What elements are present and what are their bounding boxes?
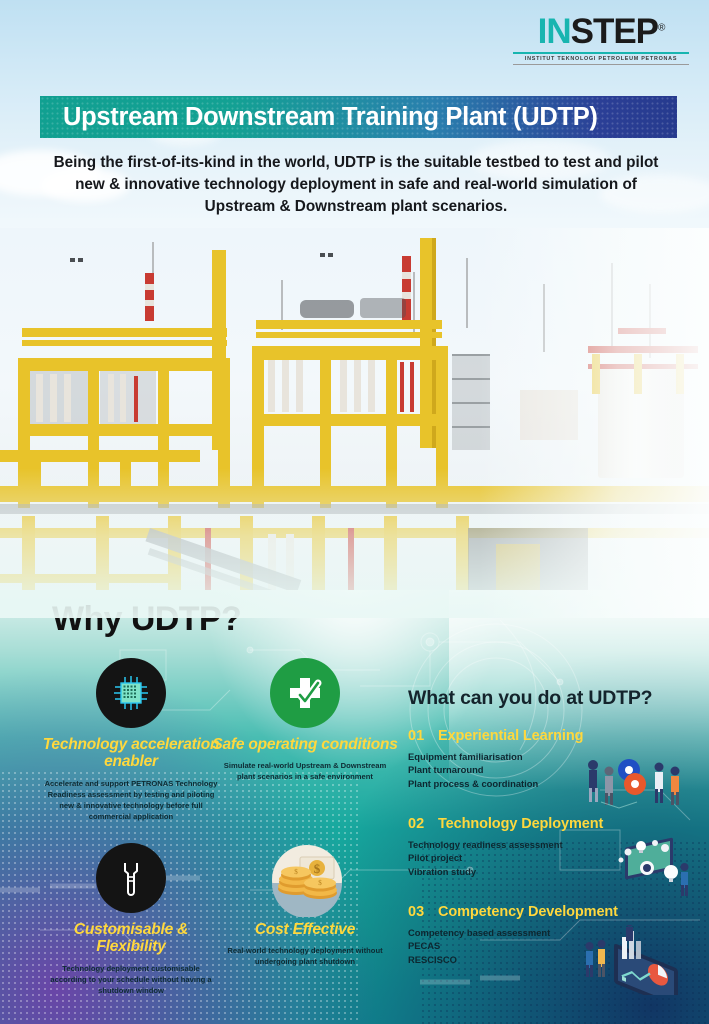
deck-beam — [252, 414, 448, 426]
photo-right-fade — [479, 228, 709, 618]
vertical-pipe — [368, 360, 375, 412]
svg-text:$: $ — [318, 879, 322, 887]
feature-description: Simulate real-world Upstream & Downstrea… — [212, 760, 398, 782]
vertical-pipe — [354, 360, 361, 412]
people-gears-illustration — [583, 748, 693, 810]
coins-money-icon: $ $ $ — [270, 843, 340, 913]
page-title: Upstream Downstream Training Plant (UDTP… — [40, 103, 598, 132]
activity-number: 03 — [408, 904, 438, 920]
vertical-pipe — [50, 374, 57, 422]
vertical-pipe — [36, 374, 43, 422]
activity-header: 02Technology Deployment — [408, 815, 700, 833]
equipment-box — [300, 300, 354, 318]
feature-title: Cost Effective — [212, 921, 398, 938]
stack-band — [145, 300, 154, 306]
flare-stack — [145, 273, 154, 321]
feature-title: Technology acceleration enabler — [38, 736, 224, 771]
activity-title: Competency Development — [438, 904, 618, 920]
deck-beam — [252, 346, 448, 360]
red-pipe — [410, 362, 414, 412]
floodlight — [328, 253, 333, 257]
logo-wordmark: INSTEP® — [509, 14, 693, 49]
vertical-pipe — [282, 360, 289, 412]
vertical-pipe — [120, 374, 126, 422]
deck-beam — [18, 358, 230, 371]
feature-title: Safe operating conditions — [212, 736, 398, 753]
feature-title: Customisable & Flexibility — [38, 921, 224, 956]
logo-step: STEP — [571, 12, 658, 51]
activity-number: 02 — [408, 816, 438, 832]
vertical-pipe — [108, 374, 114, 422]
feature-description: Accelerate and support PETRONAS Technolo… — [38, 778, 224, 822]
microchip-icon — [96, 658, 166, 728]
feature-card-customisable: Customisable & Flexibility Technology de… — [38, 843, 224, 996]
feature-card-technology-acceleration: Technology acceleration enabler Accelera… — [38, 658, 224, 822]
top-rail — [256, 332, 442, 338]
lightbulb-screen-illustration — [595, 836, 705, 898]
data-dashboard-illustration — [580, 925, 690, 987]
logo-rule — [513, 52, 689, 54]
feature-card-cost-effective: $ $ $ Cost Effecti — [212, 843, 398, 967]
top-rail — [256, 320, 442, 329]
deck-beam — [18, 424, 230, 436]
wrench-icon — [96, 843, 166, 913]
vertical-pipe — [296, 360, 303, 412]
activity-number: 01 — [408, 728, 438, 744]
logo-tagline: INSTITUT TEKNOLOGI PETROLEUM PETRONAS — [509, 56, 693, 62]
top-rail — [22, 340, 227, 346]
red-pipe — [134, 376, 138, 422]
feature-description: Technology deployment customisable accor… — [38, 963, 224, 996]
top-rail — [22, 328, 227, 337]
equipment-box — [360, 298, 406, 318]
stack-band — [145, 284, 154, 290]
floodlight — [320, 253, 325, 257]
activities-heading: What can you do at UDTP? — [408, 687, 652, 710]
vertical-pipe — [268, 360, 275, 412]
intro-paragraph: Being the first-of-its-kind in the world… — [46, 152, 666, 218]
floodlight — [70, 258, 75, 262]
logo-in: IN — [538, 12, 571, 51]
safety-check-icon — [270, 658, 340, 728]
vertical-pipe — [340, 360, 347, 412]
plant-photo — [0, 228, 709, 618]
stack-band — [402, 272, 411, 279]
mast — [466, 258, 468, 328]
logo-rule-bottom — [513, 64, 689, 65]
svg-text:$: $ — [294, 868, 298, 876]
poster-root: INSTEP® INSTITUT TEKNOLOGI PETROLEUM PET… — [0, 0, 709, 1024]
registered-mark: ® — [658, 22, 664, 33]
floodlight — [78, 258, 83, 262]
activity-header: 01Experiential Learning — [408, 727, 700, 745]
feature-description: Real-world technology deployment without… — [212, 945, 398, 967]
vertical-pipe — [64, 374, 71, 422]
instep-logo: INSTEP® INSTITUT TEKNOLOGI PETROLEUM PET… — [509, 14, 693, 65]
activity-title: Experiential Learning — [438, 728, 583, 744]
red-pipe — [400, 362, 404, 412]
title-banner: Upstream Downstream Training Plant (UDTP… — [40, 96, 677, 138]
activity-header: 03Competency Development — [408, 903, 700, 921]
svg-text:$: $ — [314, 861, 321, 876]
feature-card-safe-operating: Safe operating conditions Simulate real-… — [212, 658, 398, 782]
activity-title: Technology Deployment — [438, 816, 603, 832]
